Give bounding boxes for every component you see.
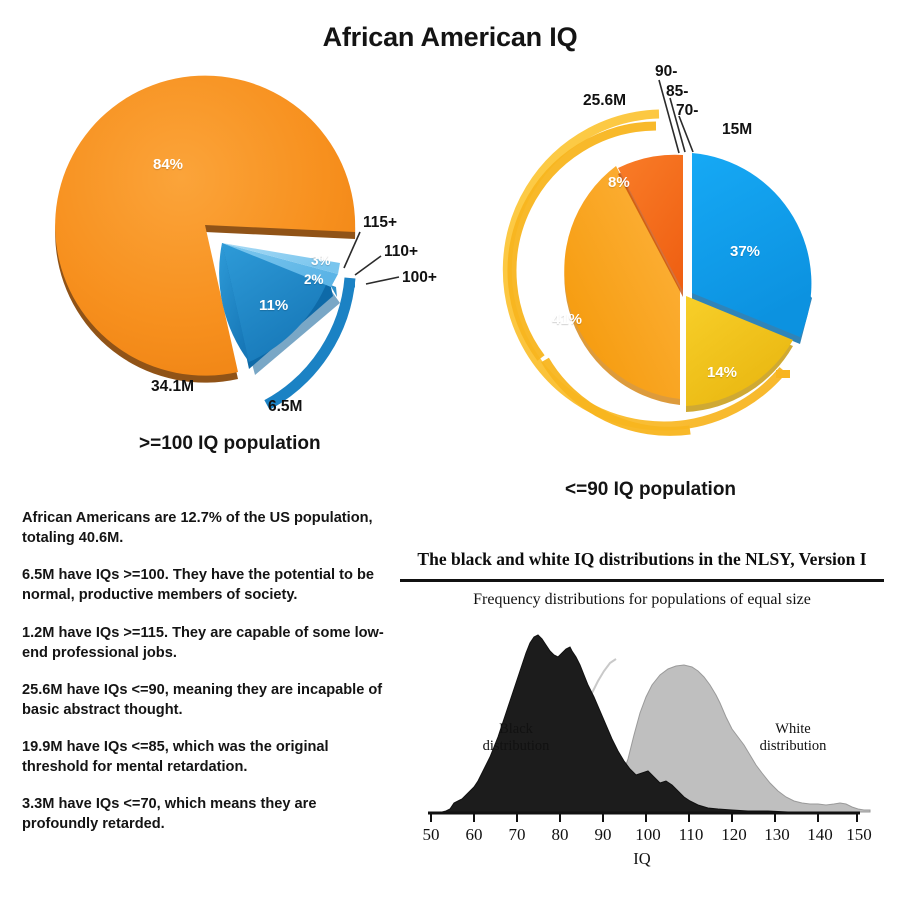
nlsy-figure-subtitle: Frequency distributions for populations … (400, 591, 884, 609)
body-paragraph-4: 25.6M have IQs <=90, meaning they are in… (22, 680, 390, 720)
nlsy-x-tick-labels: 50 60 70 80 90 100 110 120 130 140 150 (423, 825, 872, 843)
black-distribution-label-line2: distribution (461, 738, 571, 755)
left-pie-slice-110-plus (222, 243, 338, 297)
xtick-80: 80 (552, 825, 569, 843)
right-pie-slice-90-minus (686, 296, 793, 412)
right-pie-total-15m: 15M (722, 121, 752, 139)
xtick-50: 50 (423, 825, 440, 843)
xtick-130: 130 (764, 825, 790, 843)
left-pie-label-3: 3% (311, 253, 331, 269)
body-paragraph-2: 6.5M have IQs >=100. They have the poten… (22, 565, 390, 605)
white-distribution-label-line2: distribution (738, 738, 848, 755)
black-distribution-label-line1: Black (461, 721, 571, 738)
right-pie-callout-85-minus: 85- (666, 83, 688, 101)
nlsy-x-axis-title: IQ (398, 849, 886, 869)
body-paragraph-6: 3.3M have IQs <=70, which means they are… (22, 794, 390, 834)
right-pie-label-14: 14% (707, 364, 737, 381)
left-pie-exploded-group (219, 243, 355, 405)
left-pie-caption: >=100 IQ population (139, 433, 321, 455)
xtick-100: 100 (635, 825, 661, 843)
right-pie-callout-90-minus: 90- (655, 63, 677, 81)
page-title: African American IQ (0, 22, 900, 53)
right-pie-total-25-6m: 25.6M (583, 92, 626, 110)
xtick-110: 110 (679, 825, 704, 843)
right-pie-label-41: 41% (552, 311, 582, 328)
left-pie-callout-110-plus: 110+ (384, 243, 418, 261)
right-pie-label-37: 37% (730, 243, 760, 260)
xtick-150: 150 (846, 825, 872, 843)
left-pie-callout-100-plus: 100+ (402, 269, 437, 287)
left-pie-label-11: 11% (259, 297, 288, 314)
right-pie-label-8: 8% (608, 174, 630, 191)
left-pie-slice-below-100 (55, 76, 355, 383)
xtick-70: 70 (509, 825, 526, 843)
right-pie-slice-85-minus (564, 166, 680, 405)
explanatory-text-block: African Americans are 12.7% of the US po… (22, 508, 390, 835)
infographic-page: African American IQ (0, 0, 900, 900)
black-distribution-label: Black distribution (461, 721, 571, 754)
xtick-60: 60 (466, 825, 483, 843)
right-pie-outer-rings (507, 114, 790, 431)
left-pie-label-84: 84% (153, 156, 183, 173)
body-paragraph-1: African Americans are 12.7% of the US po… (22, 508, 390, 548)
nlsy-figure: The black and white IQ distributions in … (398, 543, 886, 883)
xtick-120: 120 (721, 825, 747, 843)
body-paragraph-5: 19.9M have IQs <=85, which was the origi… (22, 737, 390, 777)
body-paragraph-3: 1.2M have IQs >=115. They are capable of… (22, 623, 390, 663)
xtick-90: 90 (595, 825, 612, 843)
left-pie-total-6-5m: 6.5M (268, 398, 302, 416)
nlsy-figure-title: The black and white IQ distributions in … (400, 549, 884, 570)
nlsy-rule (400, 579, 884, 582)
xtick-140: 140 (807, 825, 833, 843)
left-pie-callout-115-plus: 115+ (363, 214, 397, 232)
left-pie-total-34-1m: 34.1M (151, 378, 194, 396)
white-distribution-label-line1: White (738, 721, 848, 738)
right-pie-callout-70-minus: 70- (676, 102, 698, 120)
right-pie-caption: <=90 IQ population (565, 479, 736, 501)
white-distribution-label: White distribution (738, 721, 848, 754)
left-pie-label-2: 2% (304, 272, 324, 288)
